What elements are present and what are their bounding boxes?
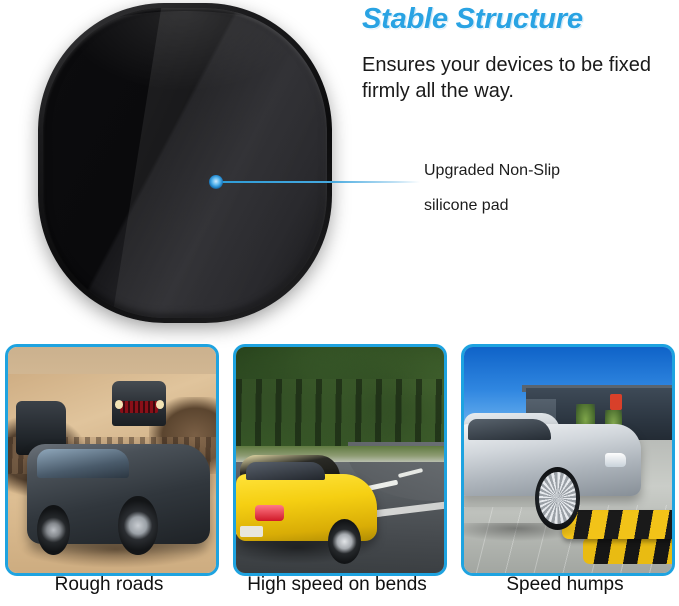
page-title: Stable Structure [362, 3, 583, 36]
scenario-panel-3 [461, 344, 675, 576]
offroad-suv-rocky-trail-photo [8, 347, 216, 573]
callout-dot-icon [209, 175, 223, 189]
photo3-building-sign [610, 394, 622, 410]
scenario-panel-row: Rough roads High speed on bends Speed hu… [0, 338, 679, 606]
photo2-car-wheel [328, 519, 361, 564]
scenario-panel-2 [233, 344, 447, 576]
photo3-car-windows [468, 419, 551, 439]
photo1-jeep-grille [120, 401, 157, 412]
photo1-jeep-headlight-right [156, 400, 164, 409]
photo1-suv-rear-wheel [37, 505, 70, 555]
callout-label-line-2: silicone pad [424, 188, 674, 223]
product-image [38, 3, 332, 323]
yellow-sports-car-forest-bend-photo [236, 347, 444, 573]
silver-car-speed-hump-photo [464, 347, 672, 573]
callout-label: Upgraded Non-Slip silicone pad [424, 153, 674, 223]
leader-line-icon [217, 181, 420, 183]
photo2-car-taillight [255, 505, 284, 521]
photo2-car-rear-window [246, 462, 325, 480]
photo3-car-headlight [605, 453, 626, 467]
hero-section: Stable Structure Ensures your devices to… [0, 0, 679, 334]
photo1-suv-windows [37, 449, 129, 478]
product-edge-sheen [43, 8, 327, 318]
photo3-speed-hump-far [583, 537, 672, 564]
scenario-caption-2: High speed on bends [230, 574, 444, 596]
callout-label-line-1: Upgraded Non-Slip [424, 153, 674, 188]
photo1-suv-front-wheel [118, 496, 158, 555]
scenario-caption-1: Rough roads [2, 574, 216, 596]
scenario-panel-1 [5, 344, 219, 576]
subtitle-text: Ensures your devices to be fixed firmly … [362, 52, 672, 104]
product-body [43, 8, 327, 318]
scenario-caption-3: Speed humps [458, 574, 672, 596]
photo2-car-licence-plate [240, 526, 263, 537]
